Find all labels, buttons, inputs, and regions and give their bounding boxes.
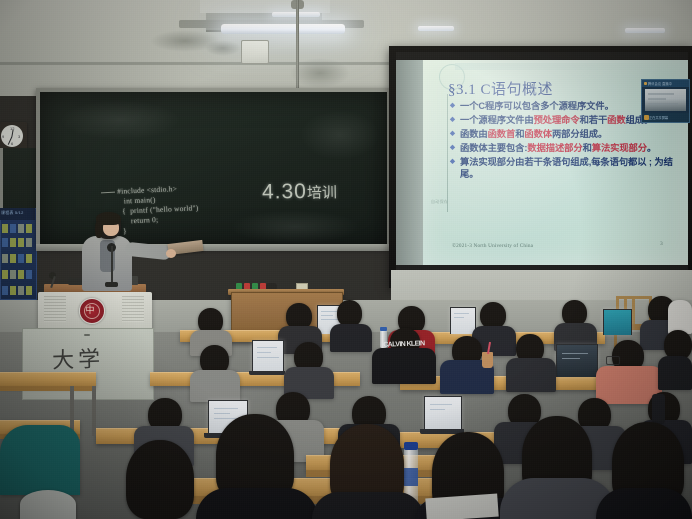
schedule-cell [10, 270, 16, 279]
chalk-dust [230, 210, 360, 244]
screen-text-line [562, 353, 588, 354]
schedule-cell [2, 238, 8, 247]
empty-desk-left [0, 372, 96, 387]
foreground-student-shoulders [312, 492, 424, 519]
screen-text-line [257, 347, 277, 348]
video-window-status: 正在共享屏幕 [649, 115, 668, 120]
schedule-cell [2, 224, 8, 233]
water-bottle-label [404, 468, 418, 486]
student-torso [658, 356, 692, 390]
schedule-cell [18, 224, 24, 233]
video-conference-thumbnail[interactable]: 腾讯会议 直播中 正在共享屏幕 [641, 79, 690, 123]
foreground-student-shoulders [596, 488, 692, 519]
drink-cup [482, 352, 493, 368]
schedule-cell [26, 238, 32, 247]
schedule-cell [26, 270, 32, 279]
slide-bullet-3: 函数由函数首和函数体两部分组成。 [450, 128, 685, 140]
desk-leg [92, 386, 96, 436]
schedule-cell [26, 286, 32, 295]
ceiling-tube-light-right [418, 26, 454, 31]
schedule-board-title: 课程表 5/12 [1, 210, 24, 216]
schedule-cell [10, 254, 16, 263]
code-line-1: #include <stdio.h> [117, 184, 177, 196]
student-torso [506, 358, 556, 392]
screen-text-line [321, 319, 339, 320]
record-indicator-icon [644, 82, 647, 85]
schedule-cell [10, 224, 16, 233]
student-head [480, 302, 506, 329]
desk-edge [0, 386, 96, 391]
slide-bullet-5: 算法实现部分由若干条语句组成,每条语句都以 ; 为结尾。 [450, 156, 685, 181]
schedule-cell [2, 270, 8, 279]
slide-footer-copyright: ©2021-3 North University of China [452, 243, 533, 249]
teacher-hand [166, 249, 176, 258]
slide-bullet-4: 函数体主要包含:数据描述部分和算法实现部分。 [450, 142, 685, 154]
blackboard-date-note: 4.30培训 [262, 179, 337, 204]
screen-text-line [562, 358, 580, 359]
screen-side-panel [396, 60, 424, 265]
student-head [337, 300, 362, 327]
screen-text-line [321, 311, 337, 312]
classroom-photo: 12 3 6 9 课程表 5/12 #include <stdio.h> int… [0, 0, 692, 519]
water-bottle-cap [404, 442, 418, 450]
chalk-dust [300, 110, 380, 160]
slide-decoration-bar [455, 63, 680, 70]
schedule-cell [18, 286, 24, 295]
code-line-4: return 0; [118, 215, 158, 226]
chair-slat [632, 298, 635, 324]
wall-speaker-box [241, 40, 269, 64]
laptop-screen[interactable] [556, 344, 598, 377]
clock-numeral-9: 9 [2, 134, 4, 139]
university-calligraphy: 大学 [51, 341, 104, 375]
laptop-screen[interactable] [424, 396, 462, 431]
blackboard-code-text: #include <stdio.h> int main() { printf (… [117, 183, 200, 236]
eyeglasses [606, 356, 620, 365]
laptop-base [249, 371, 285, 375]
screen-text-line [430, 409, 445, 410]
student-torso-white [668, 300, 692, 334]
ceiling-tube-light [221, 24, 345, 34]
podium-microphone-stand [111, 246, 113, 286]
laptop-screen[interactable] [252, 340, 284, 373]
student-torso-teal [0, 425, 80, 495]
screen-text-line [321, 315, 333, 316]
laptop-screen[interactable] [603, 309, 632, 335]
video-feed-detail [648, 98, 666, 100]
podium-vent-left [44, 296, 66, 322]
clock-numeral-6: 6 [11, 141, 13, 146]
notebook-paper [425, 494, 498, 519]
screen-text-line [214, 408, 238, 409]
share-screen-icon [644, 115, 649, 120]
video-feed-detail [648, 93, 674, 95]
student-head-light [20, 490, 76, 519]
teacher-hair-side [95, 221, 103, 238]
slide-title: §3.1 C语句概述 [448, 78, 553, 99]
schedule-cell [18, 270, 24, 279]
chalk-dust [60, 100, 180, 140]
schedule-cell [10, 238, 16, 247]
small-bottle [380, 330, 387, 348]
video-feed-detail [648, 103, 678, 105]
date-label-cn: 培训 [307, 184, 337, 202]
screen-text-line [430, 404, 452, 405]
slide-divider-line [447, 94, 448, 212]
thermos-bottle [652, 394, 665, 424]
wall-clock-face: 12 3 6 9 [1, 125, 23, 147]
code-line-2: int main() [119, 195, 155, 206]
podium-microphone-base [105, 282, 118, 287]
cabinet-handle[interactable] [84, 334, 90, 336]
schedule-cell [2, 286, 8, 295]
schedule-cell [2, 254, 8, 263]
schedule-cell [10, 286, 16, 295]
screen-text-line [214, 413, 230, 414]
schedule-cell [26, 224, 32, 233]
schedule-cell [18, 254, 24, 263]
screen-text-line [454, 317, 464, 318]
student-torso [190, 370, 240, 402]
foreground-student-head [126, 440, 194, 519]
screen-text-line [257, 357, 279, 358]
foreground-student-shoulders [196, 488, 318, 519]
small-bottle-cap [380, 327, 387, 331]
date-number: 4.30 [262, 180, 307, 204]
wall-stain [290, 58, 350, 88]
schedule-cell [26, 254, 32, 263]
wall-stain [205, 40, 241, 56]
university-emblem-glyph: 中 [86, 303, 95, 317]
screen-text-line [454, 313, 469, 314]
ceiling-tube-light-corner [625, 28, 665, 33]
screen-text-line [257, 352, 271, 353]
clock-numeral-3: 3 [18, 134, 20, 139]
video-window-title: 腾讯会议 直播中 [648, 81, 672, 86]
laptop-screen[interactable] [450, 307, 476, 334]
video-feed [645, 89, 686, 111]
schedule-cell [18, 238, 24, 247]
slide-page-number: 3 [660, 241, 663, 247]
slide-corner-note: 自动保存 [431, 199, 448, 205]
student-torso [330, 324, 372, 352]
podium-vent-right [122, 296, 144, 322]
